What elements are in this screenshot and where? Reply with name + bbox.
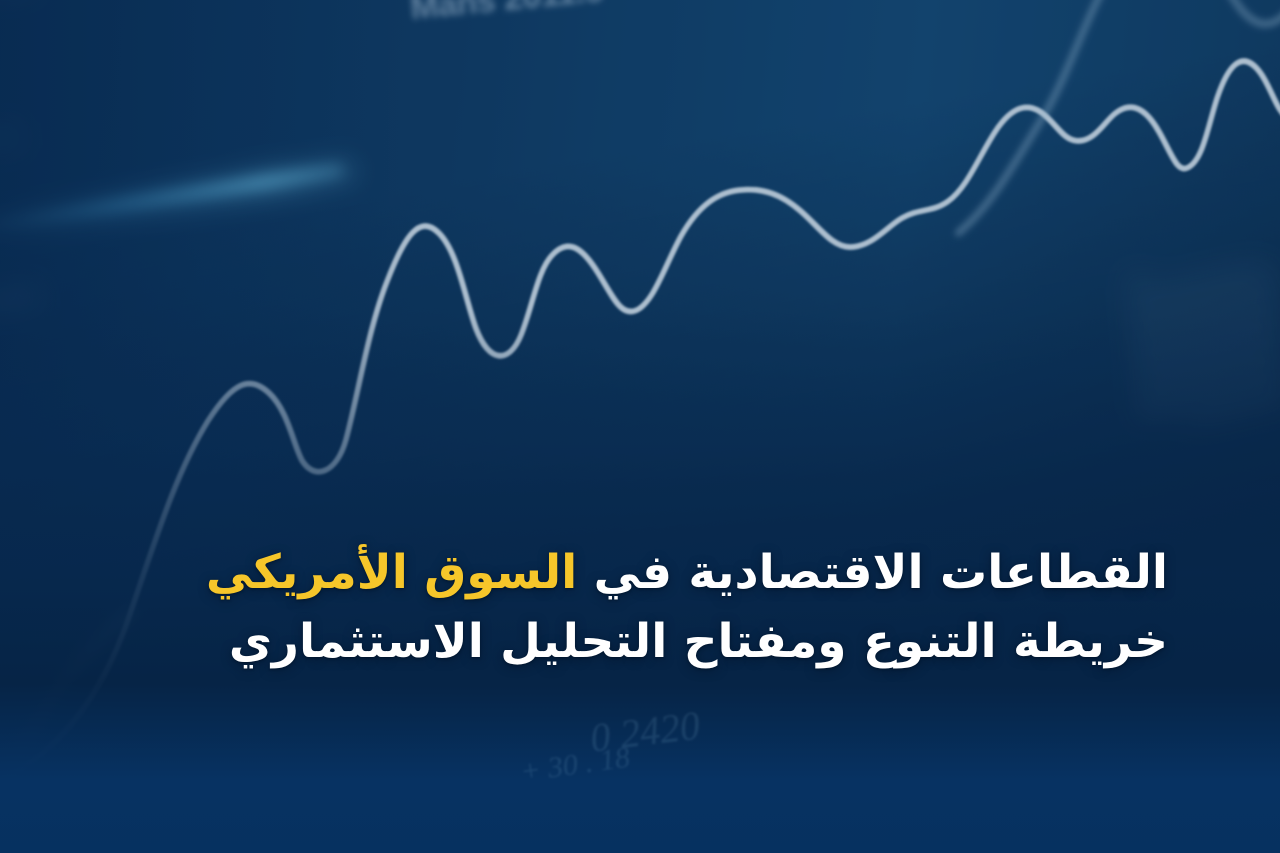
headline-block: القطاعات الاقتصادية في السوق الأمريكي خر… [88, 548, 1168, 668]
headline-line-2: خريطة التنوع ومفتاح التحليل الاستثماري [88, 617, 1168, 668]
headline-line-1-text: القطاعات الاقتصادية في [577, 545, 1168, 600]
headline-highlight: السوق الأمريكي [206, 545, 577, 600]
headline-line-1: القطاعات الاقتصادية في السوق الأمريكي [88, 548, 1168, 599]
banner-canvas: Mans 2011.5 Mo 1.98 1.11 0.665 2420 0 18… [0, 0, 1280, 853]
